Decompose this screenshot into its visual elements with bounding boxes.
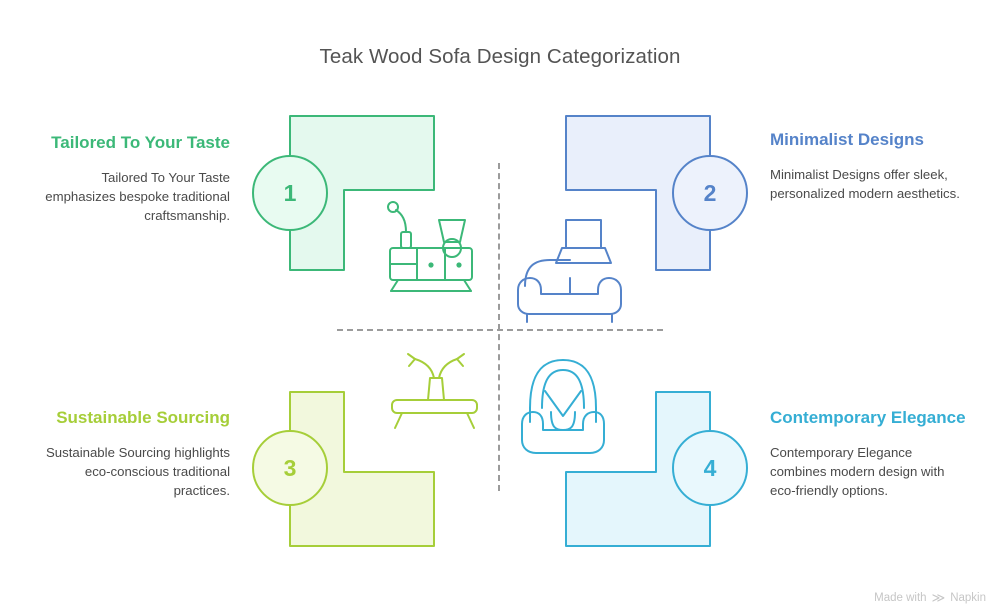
page-title: Teak Wood Sofa Design Categorization — [0, 45, 1000, 69]
quadrant-3-badge-number: 3 — [284, 455, 297, 481]
quadrant-3-text: Sustainable Sourcing Sustainable Sourcin… — [30, 406, 230, 501]
quadrant-4-description: Contemporary Elegance combines modern de… — [770, 443, 970, 500]
quadrant-3-graphic[interactable]: 3 — [262, 350, 492, 565]
quadrant-1-heading: Tailored To Your Taste — [30, 131, 230, 155]
credenza-lamp-icon — [388, 202, 472, 291]
quadrant-1-badge-number: 1 — [284, 180, 297, 206]
quadrant-2-badge-number: 2 — [704, 180, 717, 206]
watermark-brand: Napkin — [950, 592, 986, 604]
watermark-prefix: Made with — [874, 592, 926, 604]
quadrant-1-text: Tailored To Your Taste Tailored To Your … — [30, 131, 230, 226]
quadrant-4-text: Contemporary Elegance Contemporary Elega… — [770, 406, 970, 501]
quadrant-3-description: Sustainable Sourcing highlights eco-cons… — [30, 443, 230, 500]
quadrant-1-description: Tailored To Your Taste emphasizes bespok… — [30, 168, 230, 225]
quadrant-2-heading: Minimalist Designs — [770, 128, 970, 152]
quadrant-4-badge-number: 4 — [704, 455, 717, 481]
infographic-canvas: Teak Wood Sofa Design Categorization Tai… — [0, 0, 1000, 613]
quadrant-3-heading: Sustainable Sourcing — [30, 406, 230, 430]
quadrant-2-graphic[interactable]: 2 — [508, 108, 738, 323]
napkin-logo-icon: ≫ — [932, 591, 946, 604]
quadrant-1-graphic[interactable]: 1 — [262, 108, 492, 323]
quadrant-4-heading: Contemporary Elegance — [770, 406, 970, 430]
armchair-icon — [522, 360, 604, 453]
divider-horizontal — [337, 329, 663, 331]
quadrant-2-description: Minimalist Designs offer sleek, personal… — [770, 165, 970, 203]
napkin-watermark: Made with ≫ Napkin — [874, 591, 986, 604]
quadrant-4-graphic[interactable]: 4 — [508, 350, 738, 565]
bench-vase-icon — [392, 354, 477, 428]
sofa-laptop-icon — [518, 220, 621, 322]
quadrant-2-text: Minimalist Designs Minimalist Designs of… — [770, 128, 970, 203]
divider-vertical — [498, 163, 500, 491]
